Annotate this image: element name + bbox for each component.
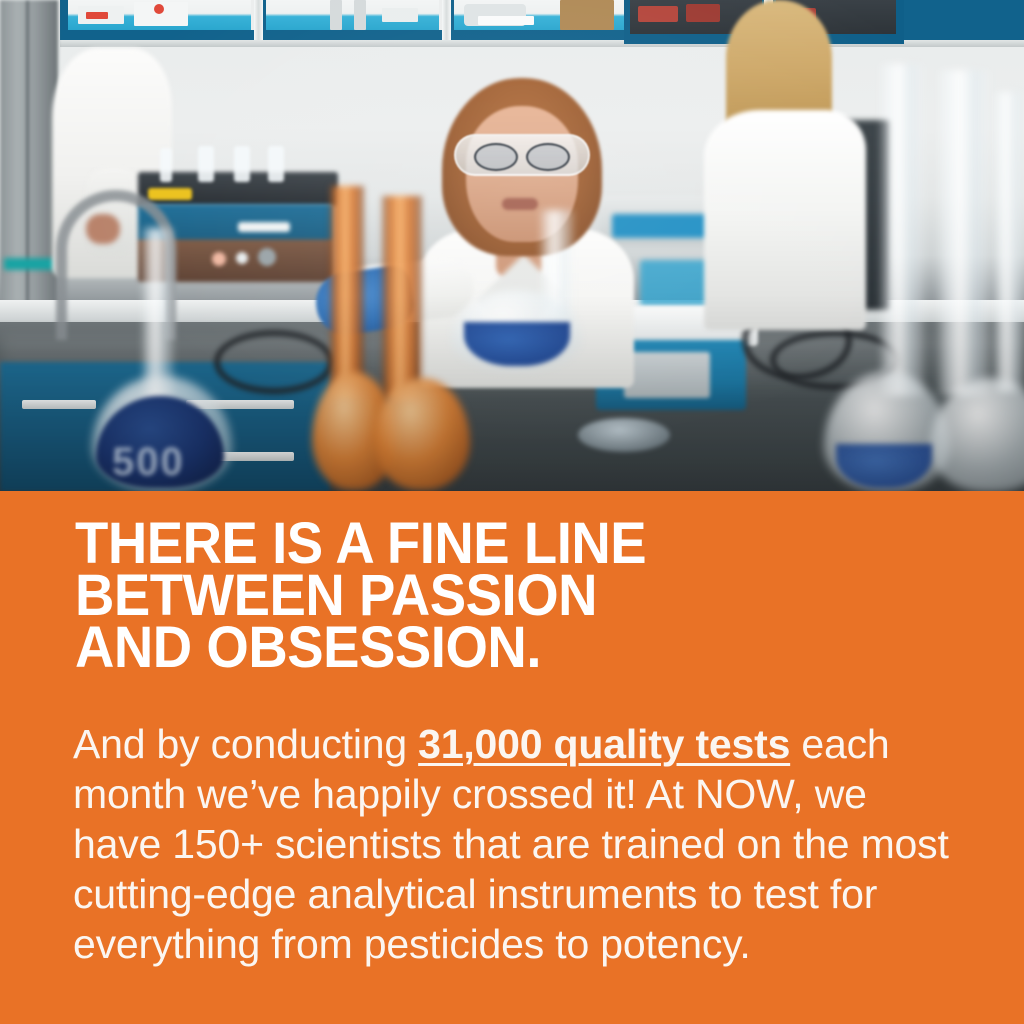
flask-volume-marking: 500 [112, 440, 185, 485]
graduated-cylinder [880, 64, 924, 396]
sample-vial [198, 146, 214, 182]
body-copy: And by conducting 31,000 quality tests e… [73, 719, 953, 969]
goggle-lens-left [474, 143, 518, 171]
instrument-knob [212, 252, 226, 266]
orange-text-panel: THERE IS A FINE LINE BETWEEN PASSION AND… [0, 491, 1024, 1024]
goggle-lens-right [526, 143, 570, 171]
laboratory-photo: 500 [0, 0, 1024, 491]
amber-column-glassware [330, 186, 364, 398]
page-title: THERE IS A FINE LINE BETWEEN PASSION AND… [75, 518, 921, 674]
equipment-cable [214, 330, 334, 394]
instrument-knob [236, 252, 248, 264]
instrument-dial [258, 248, 276, 266]
scientist-right [700, 0, 870, 330]
scientist-center-mouth [502, 198, 538, 210]
safety-goggles [454, 134, 590, 176]
cabinet-glass-panel [266, 0, 442, 30]
body-copy-part1: And by conducting [73, 721, 418, 767]
amber-column-glassware [382, 196, 422, 400]
graduated-cylinder [938, 70, 990, 396]
instrument-display [238, 222, 290, 232]
sample-vial [234, 146, 250, 182]
balance-display [624, 352, 710, 398]
yellow-label [148, 188, 192, 200]
cabinet-glass-panel [454, 0, 634, 30]
graduated-cylinder [994, 92, 1024, 392]
sample-vial [268, 146, 284, 182]
drawer-handle [22, 400, 96, 409]
social-card: 500 THERE IS A FINE LINE BETWEEN PASSION… [0, 0, 1024, 1024]
watch-glass-dish [578, 418, 670, 452]
quality-tests-highlight: 31,000 quality tests [418, 721, 790, 767]
sample-vial [160, 148, 172, 182]
cabinet-glass-panel [68, 0, 254, 30]
scientist-right-lab-coat [704, 110, 866, 330]
